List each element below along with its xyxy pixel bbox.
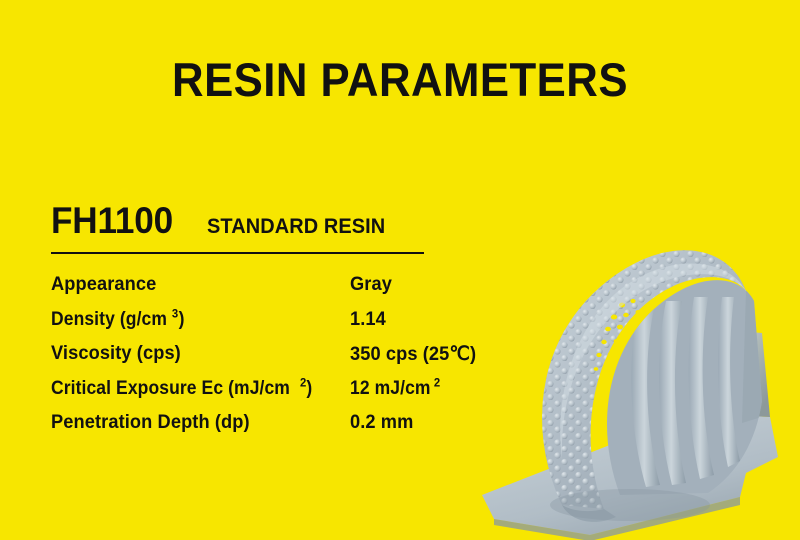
parameter-name: Critical Exposure Ec (mJ/cm2)	[51, 372, 350, 407]
resin-spec-heading: FH1100 STANDARD RESIN	[51, 200, 481, 244]
resin-type-label: STANDARD RESIN	[207, 215, 385, 239]
parameter-value: Gray	[350, 268, 481, 303]
parameter-name: Penetration Depth (dp)	[51, 406, 350, 441]
resin-spec-card: FH1100 STANDARD RESIN Appearance Gray De…	[51, 200, 481, 441]
parameter-text-main: Critical Exposure Ec (mJ/cm	[51, 378, 290, 400]
parameter-name: Viscosity (cps)	[51, 337, 350, 372]
parameter-value: 350 cps (25℃)	[350, 337, 481, 372]
contact-shadow	[550, 489, 710, 521]
value-text: 12 mJ/cm2	[350, 378, 440, 400]
value-text: 1.14	[350, 309, 386, 331]
parameter-name: Appearance	[51, 268, 350, 303]
table-row: Viscosity (cps) 350 cps (25℃)	[51, 337, 481, 372]
value-text: Gray	[350, 274, 392, 296]
resin-parameters-table: Appearance Gray Density (g/cm3) 1.14	[51, 268, 481, 441]
parameter-name: Density (g/cm3)	[51, 303, 350, 338]
parameter-text: Density (g/cm3)	[51, 309, 184, 331]
table-row: Appearance Gray	[51, 268, 481, 303]
table-row: Penetration Depth (dp) 0.2 mm	[51, 406, 481, 441]
parameter-text-tail: )	[178, 309, 184, 331]
table-row: Density (g/cm3) 1.14	[51, 303, 481, 338]
table-row: Critical Exposure Ec (mJ/cm2) 12 mJ/cm2	[51, 372, 481, 407]
parameter-text: Viscosity (cps)	[51, 343, 181, 365]
page-title: RESIN PARAMETERS	[28, 55, 772, 105]
parameter-value: 1.14	[350, 303, 481, 338]
value-text: 350 cps (25℃)	[350, 343, 476, 366]
parameter-text-main: Density (g/cm	[51, 309, 167, 331]
resin-part-image	[470, 205, 800, 540]
value-superscript: 2	[433, 376, 439, 389]
parameter-value: 12 mJ/cm2	[350, 372, 481, 407]
resin-parameters-page: RESIN PARAMETERS FH1100 STANDARD RESIN A…	[0, 0, 800, 540]
resin-code-label: FH1100	[51, 200, 173, 242]
parameter-superscript: 3	[172, 307, 178, 320]
parameter-superscript: 2	[300, 376, 306, 389]
value-text-main: 12 mJ/cm	[350, 378, 431, 400]
parameter-text: Penetration Depth (dp)	[51, 412, 250, 434]
parameter-text: Appearance	[51, 274, 156, 296]
parameter-text-tail: )	[306, 378, 312, 400]
heading-divider	[51, 252, 424, 254]
parameter-value: 0.2 mm	[350, 406, 481, 441]
resin-part-illustration	[470, 205, 800, 540]
value-text: 0.2 mm	[350, 412, 413, 434]
parameter-text: Critical Exposure Ec (mJ/cm2)	[51, 378, 313, 400]
